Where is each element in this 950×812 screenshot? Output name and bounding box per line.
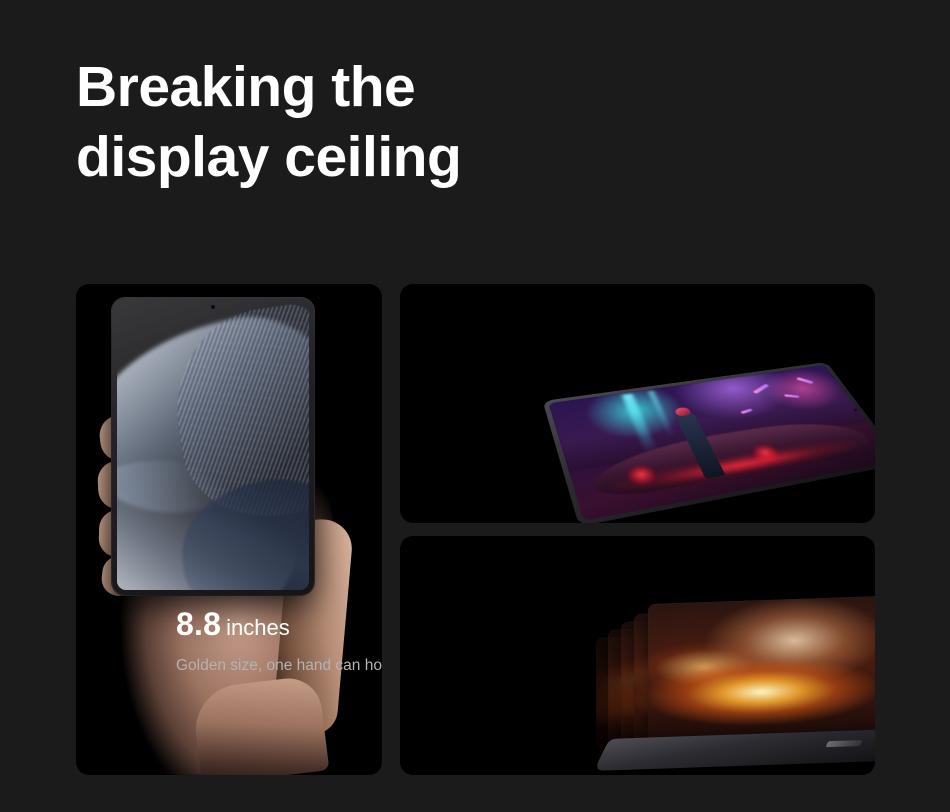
feature-card-refresh-rate: 165Hzultra-high refresh rate 10X touch r… <box>400 536 875 775</box>
car-underglow <box>607 435 866 498</box>
motion-frame-front <box>648 596 875 752</box>
page-title-line-1: Breaking the <box>76 52 461 122</box>
motion-frames-illustration <box>596 588 875 775</box>
card-size-unit: inches <box>226 615 290 640</box>
car-wheel-glow <box>748 442 782 464</box>
product-feature-page: Breaking the display ceiling <box>0 0 950 812</box>
feature-card-resolution: 2560 x1600resolution 343ppi ultra-fine d… <box>400 284 875 523</box>
gaming-tablet-illustration <box>560 344 875 523</box>
tablet-device-portrait <box>112 298 314 595</box>
feature-card-size: 8.8inches Golden size, one hand can hold… <box>76 284 382 775</box>
page-title: Breaking the display ceiling <box>76 52 461 192</box>
tablet-device-tilted <box>543 362 875 523</box>
neon-sky-backdrop <box>548 365 866 472</box>
page-title-line-2: display ceiling <box>76 122 461 192</box>
tablet-screen-dune-wallpaper <box>117 303 309 590</box>
fire-effect <box>648 596 875 752</box>
card-size-heading: 8.8inches <box>176 606 290 643</box>
front-camera-icon <box>211 305 215 309</box>
card-size-subtitle: Golden size, one hand can hold it <box>176 654 382 677</box>
hand-holding-tablet-illustration <box>76 284 382 775</box>
brand-mark <box>825 740 863 747</box>
car-wheel-glow <box>624 463 659 487</box>
card-size-number: 8.8 <box>176 606 221 642</box>
tablet-screen-cyberpunk-scene <box>548 365 875 521</box>
